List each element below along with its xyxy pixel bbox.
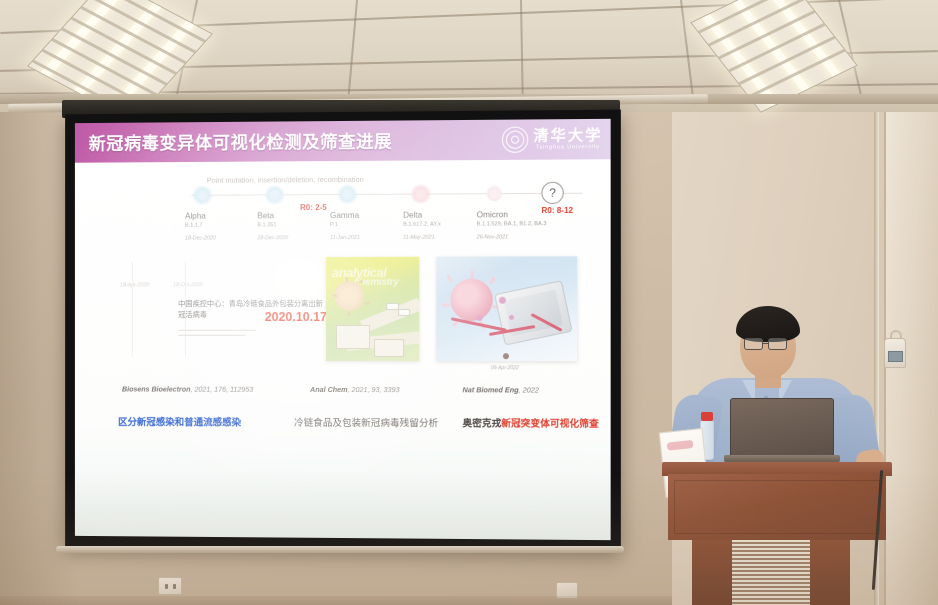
variant-lineage: P.1 — [330, 222, 360, 229]
citation-journal: Anal Chem — [310, 385, 347, 394]
variant-name: Omicron — [477, 210, 547, 221]
wall-lower-shading — [0, 470, 938, 605]
virus-particle-icon — [334, 281, 364, 311]
car-shape — [386, 303, 399, 310]
mid-date-right: 18-Oct-2020 — [173, 282, 203, 288]
timeline-node-alpha — [195, 188, 210, 203]
variant-date: 18-Dec-2020 — [257, 235, 288, 241]
citation-rest: , 2021, 176, 112953 — [190, 385, 253, 394]
tsinghua-logo: 清华大学 Tsinghua University — [502, 126, 603, 153]
cdc-note-block: 中国疾控中心：青岛冷链食品外包装分离出新冠活病毒 2020.10.17 ▂▂▂▂… — [178, 299, 327, 337]
caption-coldchain-residue: 冷链食品及包装新冠病毒残留分析 — [294, 415, 438, 430]
timeline-unknown-node: ? — [541, 182, 563, 204]
citation-rest: , 2022 — [519, 385, 539, 394]
timeline-item-gamma: Gamma P.1 11-Jan-2021 — [330, 211, 360, 241]
citation-rest: , 2021, 93, 3393 — [348, 385, 400, 394]
variant-lineage: B.1.1.7 — [185, 223, 216, 230]
timeline-node-beta — [267, 187, 282, 202]
timeline-item-omicron: Omicron B.1.1.529, BA.1, B1.2, BA.3 26-N… — [477, 210, 547, 240]
timeline-caption: Point mutation, insertion/deletion, reco… — [207, 175, 364, 185]
divider-left — [132, 262, 133, 357]
lecture-room-scene: 新冠病毒变异体可视化检测及筛查进展 清华大学 Tsinghua Universi… — [0, 0, 938, 605]
figure-date-label: 09-Apr-2022 — [491, 365, 519, 371]
timeline-node-omicron — [487, 186, 502, 201]
figure-virus-smartphone — [436, 256, 577, 361]
caption-flu-discrimination: 区分新冠感染和普通流感感染 — [118, 414, 241, 428]
timeline-item-alpha: Alpha B.1.1.7 18-Dec-2020 — [185, 212, 216, 241]
papers-highlight-mark — [667, 440, 694, 451]
variant-date: 11-Jan-2021 — [330, 234, 360, 240]
water-bottle-cap — [701, 412, 713, 421]
presenter-glasses-right-lens — [768, 338, 787, 350]
slide-header: 新冠病毒变异体可视化检测及筛查进展 清华大学 Tsinghua Universi… — [75, 119, 611, 163]
timeline-unknown-label: ? — [549, 186, 556, 200]
university-name-cn: 清华大学 — [533, 128, 602, 144]
car-shape — [398, 309, 410, 316]
timeline-node-delta — [413, 187, 428, 202]
mid-date-left: 18-Apr-2020 — [120, 282, 149, 288]
citation-biosens: Biosens Bioelectron, 2021, 176, 112953 — [122, 385, 253, 394]
variant-date: 18-Dec-2020 — [185, 235, 216, 241]
variant-name: Gamma — [330, 211, 360, 221]
truck-shape — [374, 339, 404, 357]
citation-journal: Biosens Bioelectron — [122, 385, 190, 394]
truck-shape — [336, 325, 370, 349]
variant-name: Beta — [257, 211, 288, 221]
r0-value-right: R0: 8-12 — [541, 206, 573, 215]
variant-name: Delta — [403, 211, 441, 221]
caption-omicron-screening: 奥密克戎新冠突变体可视化筛查 — [463, 415, 599, 430]
timeline-axis — [191, 193, 582, 196]
slide-title: 新冠病毒变异体可视化检测及筛查进展 — [89, 128, 392, 155]
citation-journal: Nat Biomed Eng — [463, 385, 519, 394]
tsinghua-seal-icon — [502, 127, 528, 153]
variant-lineage: B.1.617.2, AY.x — [403, 222, 441, 229]
university-name-en: Tsinghua University — [536, 145, 600, 151]
laptop-base[interactable] — [724, 455, 840, 462]
timeline-item-delta: Delta B.1.617.2, AY.x 11-May-2021 — [403, 211, 441, 241]
variant-date: 26-Nov-2021 — [477, 234, 547, 240]
citation-anal-chem: Anal Chem, 2021, 93, 3393 — [310, 385, 400, 394]
caption-omicron-prefix: 奥密克戎 — [463, 418, 502, 429]
variant-lineage: B.1.351 — [257, 222, 288, 229]
r0-value-left: R0: 2-5 — [300, 203, 327, 212]
cdc-note-fineprint: ▂▂▂▂▂▂▂▂▂▂▂▂▂▂▂▂▂▂▂▂▂▂▂▂▂▂▂▂▂▂▂▂▂▂▂▂▂▂▂▂… — [178, 327, 327, 337]
figure-analytical-chemistry: analytical chemistry — [326, 257, 419, 361]
timeline-node-gamma — [340, 187, 355, 202]
presenter-glasses-left-lens — [744, 338, 763, 350]
figure-marker-dot — [503, 353, 509, 359]
variant-name: Alpha — [185, 212, 216, 222]
laptop-screen[interactable] — [730, 398, 834, 456]
variant-lineage: B.1.1.529, BA.1, B1.2, BA.3 — [477, 221, 547, 229]
presenter-glasses-bridge — [763, 343, 769, 344]
citation-nat-biomed: Nat Biomed Eng, 2022 — [463, 385, 539, 394]
timeline-item-beta: Beta B.1.351 18-Dec-2020 — [257, 211, 288, 241]
wall-thermostat[interactable] — [884, 338, 906, 368]
thermostat-display — [888, 351, 903, 362]
variant-date: 11-May-2021 — [403, 234, 441, 240]
virus-particle-icon — [450, 279, 492, 321]
university-name-block: 清华大学 Tsinghua University — [533, 128, 602, 151]
caption-omicron-highlight: 新冠突变体可视化筛查 — [501, 419, 598, 430]
